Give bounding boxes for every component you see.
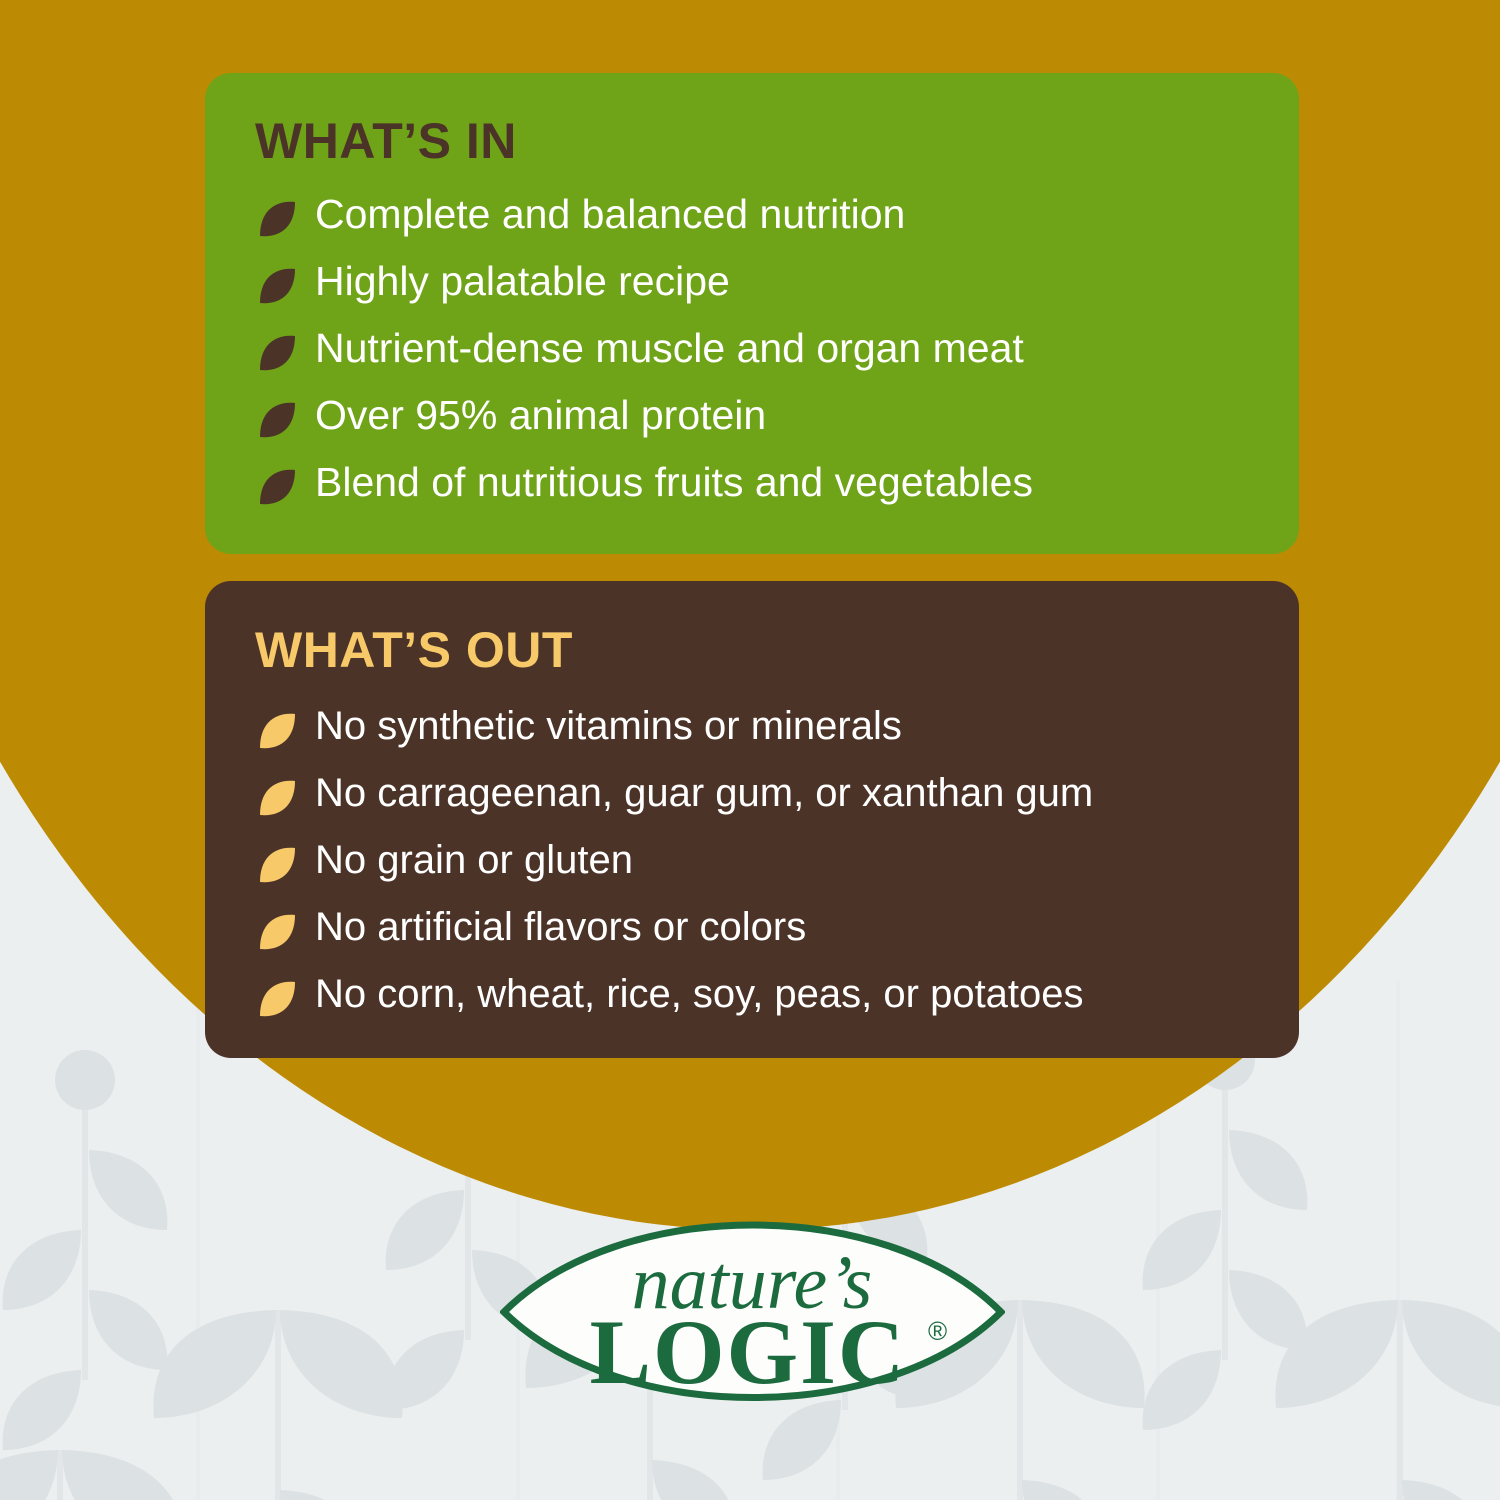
list-item-label: No grain or gluten [315, 837, 633, 883]
list-item-label: No carrageenan, guar gum, or xanthan gum [315, 770, 1093, 816]
list-item-label: No artificial flavors or colors [315, 904, 806, 950]
list-item-label: Highly palatable recipe [315, 258, 730, 304]
list-item-label: Over 95% animal protein [315, 392, 766, 438]
whats-in-heading: WHAT’S IN [255, 112, 517, 170]
list-item: No grain or gluten [255, 837, 1273, 904]
leaf-icon [255, 196, 299, 240]
leaf-icon [255, 909, 299, 953]
leaf-icon [255, 464, 299, 508]
list-item-label: Nutrient-dense muscle and organ meat [315, 325, 1024, 371]
leaf-icon [255, 263, 299, 307]
list-item: No synthetic vitamins or minerals [255, 703, 1273, 770]
promo-graphic: WHAT’S IN Complete and balanced nutritio… [0, 0, 1500, 1500]
registered-trademark-icon: ® [928, 1316, 947, 1346]
list-item: No carrageenan, guar gum, or xanthan gum [255, 770, 1273, 837]
list-item: Complete and balanced nutrition [255, 191, 1273, 258]
list-item: No corn, wheat, rice, soy, peas, or pota… [255, 971, 1273, 1038]
logo-serif-text: LOGIC [590, 1301, 907, 1403]
list-item: No artificial flavors or colors [255, 904, 1273, 971]
leaf-icon [255, 842, 299, 886]
leaf-icon [255, 708, 299, 752]
list-item: Over 95% animal protein [255, 392, 1273, 459]
list-item: Blend of nutritious fruits and vegetable… [255, 459, 1273, 526]
whats-in-list: Complete and balanced nutrition Highly p… [255, 191, 1273, 526]
leaf-icon [255, 330, 299, 374]
list-item-label: No synthetic vitamins or minerals [315, 703, 902, 749]
list-item: Nutrient-dense muscle and organ meat [255, 325, 1273, 392]
list-item-label: No corn, wheat, rice, soy, peas, or pota… [315, 971, 1084, 1017]
leaf-icon [255, 775, 299, 819]
leaf-icon [255, 397, 299, 441]
leaf-icon [255, 976, 299, 1020]
list-item-label: Complete and balanced nutrition [315, 191, 905, 237]
whats-out-heading: WHAT’S OUT [255, 621, 573, 679]
natures-logic-logo: nature’s LOGIC ® [500, 1190, 1005, 1430]
list-item-label: Blend of nutritious fruits and vegetable… [315, 459, 1033, 505]
whats-out-list: No synthetic vitamins or minerals No car… [255, 703, 1273, 1038]
whats-in-card: WHAT’S IN Complete and balanced nutritio… [205, 73, 1299, 554]
whats-out-card: WHAT’S OUT No synthetic vitamins or mine… [205, 581, 1299, 1058]
list-item: Highly palatable recipe [255, 258, 1273, 325]
